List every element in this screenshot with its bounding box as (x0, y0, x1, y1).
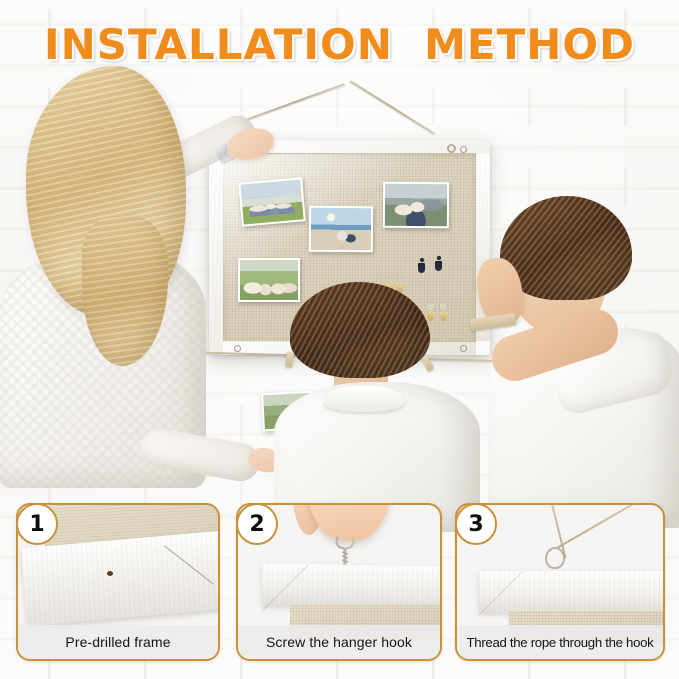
step-panel-3[interactable]: Thread the rope through the hook 3 (455, 503, 665, 661)
earrings-navy-drop (418, 258, 425, 273)
photo-family-outdoor (383, 182, 449, 229)
hook-ring (545, 547, 565, 569)
frame-side (148, 503, 220, 638)
step-3-caption: Thread the rope through the hook (457, 625, 663, 659)
earrings-navy-drop-pair (435, 256, 442, 271)
step-2-badge: 2 (236, 503, 278, 545)
boy-center-hair (290, 282, 430, 378)
step-3-badge: 3 (455, 503, 497, 545)
boy-right (470, 196, 679, 526)
infographic-stage: INSTALLATION METHOD Pre-drilled frame 1 (0, 0, 679, 679)
photo-family-grass (238, 177, 306, 226)
step-1-caption: Pre-drilled frame (18, 625, 218, 659)
boy-center (268, 282, 498, 522)
photo-beach-family (309, 206, 373, 253)
step-1-badge: 1 (16, 503, 58, 545)
rope-segment-right (557, 503, 641, 549)
woman-holding-rope (0, 66, 240, 486)
hanger-hook-icon (334, 535, 356, 567)
frame-miter-line (479, 571, 523, 615)
frame-hook-top-right (460, 146, 467, 153)
step-2-caption: Screw the hanger hook (238, 625, 440, 659)
installation-steps: Pre-drilled frame 1 Screw (0, 503, 679, 663)
step-panel-1[interactable]: Pre-drilled frame 1 (16, 503, 220, 661)
page-title: INSTALLATION METHOD (0, 20, 679, 69)
pre-drilled-hole (107, 571, 113, 576)
boy-center-collar (324, 386, 404, 412)
rope-ring-right (447, 144, 456, 153)
step-panel-2[interactable]: Screw the hanger hook 2 (236, 503, 442, 661)
